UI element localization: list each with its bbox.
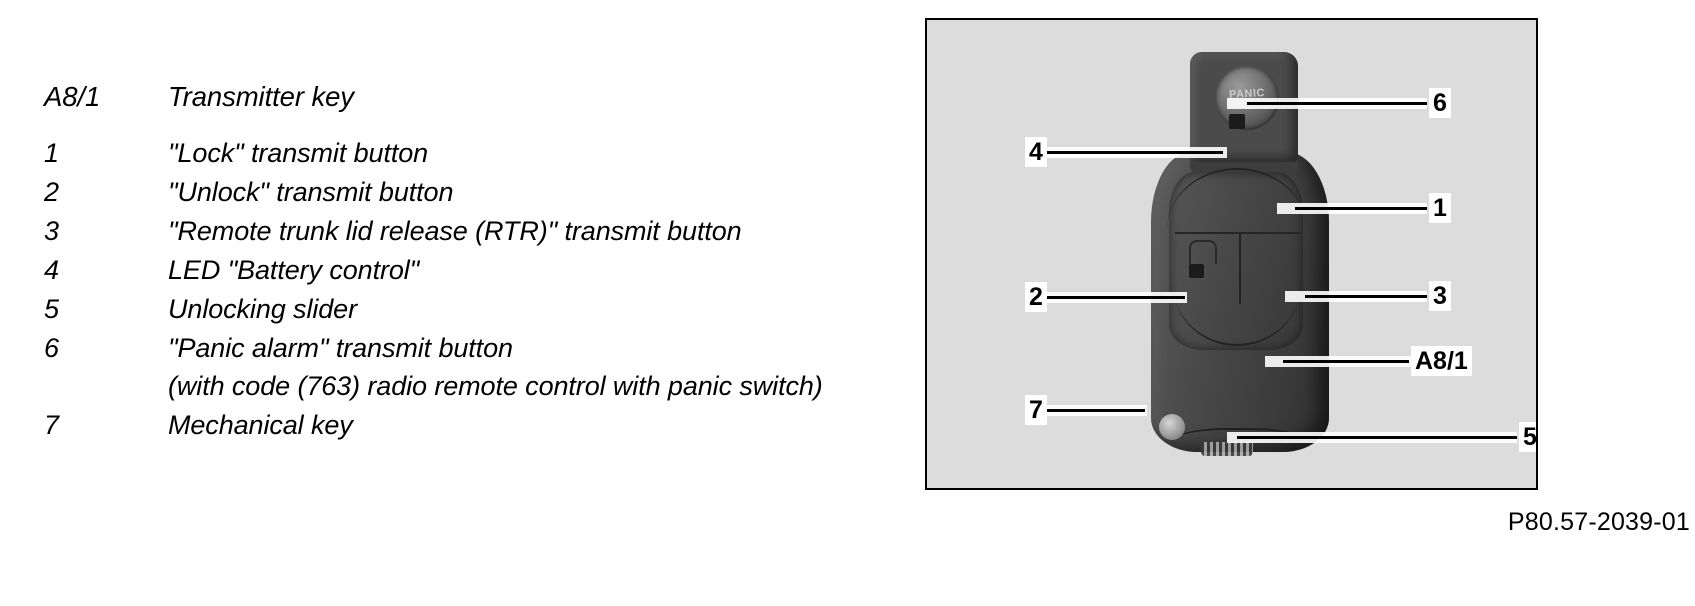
callout-1: 1: [1429, 193, 1451, 223]
legend-item-3-ref: 3: [44, 216, 168, 247]
leader-line-4: [1045, 151, 1223, 154]
leader-line-1: [1295, 207, 1427, 210]
leader-line-7: [1045, 409, 1145, 412]
legend-item-7: 7Mechanical key: [44, 410, 353, 441]
legend-item-3-desc: "Remote trunk lid release (RTR)" transmi…: [168, 216, 742, 247]
unlock-icon-body: [1189, 264, 1204, 278]
legend-item-1-desc: "Lock" transmit button: [168, 138, 428, 169]
legend-item-1: 1"Lock" transmit button: [44, 138, 428, 169]
legend-item-7-desc: Mechanical key: [168, 410, 353, 441]
figure-caption: P80.57-2039-01: [1050, 508, 1690, 537]
legend-title-row: A8/1Transmitter key: [44, 81, 354, 113]
legend-title-desc: Transmitter key: [168, 81, 354, 113]
legend-item-7-ref: 7: [44, 410, 168, 441]
lock-icon: [1229, 114, 1245, 129]
legend-item-2-desc: "Unlock" transmit button: [168, 177, 453, 208]
unlocking-slider[interactable]: [1201, 442, 1253, 456]
legend-item-3: 3"Remote trunk lid release (RTR)" transm…: [44, 216, 742, 247]
legend-item-5: 5Unlocking slider: [44, 294, 357, 325]
legend-item-6: 6"Panic alarm" transmit button: [44, 333, 513, 364]
mechanical-key-release-nub: [1159, 414, 1185, 440]
legend-item-4-desc: LED "Battery control": [168, 255, 419, 286]
legend-item-6-desc: "Panic alarm" transmit button: [168, 333, 513, 364]
legend-item-2-ref: 2: [44, 177, 168, 208]
callout-3: 3: [1429, 281, 1451, 311]
callout-2: 2: [1025, 282, 1047, 312]
leader-line-6: [1247, 102, 1427, 105]
unlock-icon: [1189, 240, 1217, 264]
legend-item-1-ref: 1: [44, 138, 168, 169]
figure-panel: PANIC: [925, 18, 1538, 490]
key-fob-horizontal-divider: [1175, 232, 1301, 234]
leader-line-2: [1045, 296, 1185, 299]
legend-title-ref: A8/1: [44, 81, 168, 113]
legend-item-6-continuation-desc: (with code (763) radio remote control wi…: [168, 371, 823, 402]
legend-item-4: 4LED "Battery control": [44, 255, 419, 286]
callout-a81: A8/1: [1411, 346, 1472, 376]
legend-item-6-ref: 6: [44, 333, 168, 364]
diagram-page: A8/1Transmitter key 1"Lock" transmit but…: [0, 0, 1695, 606]
legend-item-5-desc: Unlocking slider: [168, 294, 357, 325]
legend-item-2: 2"Unlock" transmit button: [44, 177, 453, 208]
legend-list: A8/1Transmitter key 1"Lock" transmit but…: [0, 0, 910, 606]
callout-4: 4: [1025, 137, 1047, 167]
leader-line-5: [1237, 436, 1517, 439]
legend-item-5-ref: 5: [44, 294, 168, 325]
callout-5: 5: [1519, 422, 1538, 452]
legend-item-6-continuation: (with code (763) radio remote control wi…: [44, 371, 823, 402]
callout-6: 6: [1429, 88, 1451, 118]
legend-item-4-ref: 4: [44, 255, 168, 286]
leader-line-3: [1305, 295, 1427, 298]
leader-line-a81: [1283, 360, 1409, 363]
callout-7: 7: [1025, 395, 1047, 425]
